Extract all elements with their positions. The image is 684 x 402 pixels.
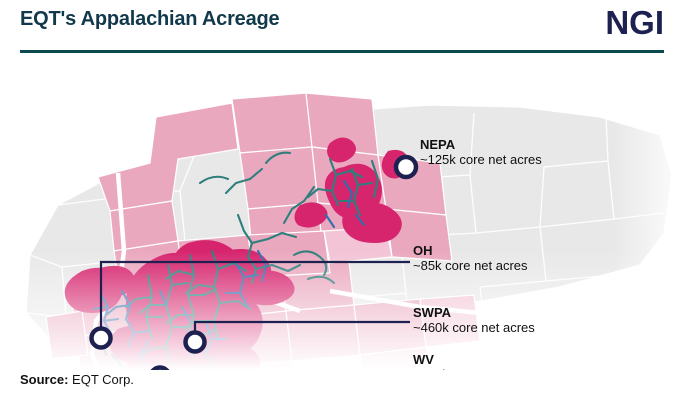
marker-wv[interactable]	[151, 368, 170, 371]
slide-header: EQT's Appalachian Acreage NGI	[0, 0, 684, 52]
callout-swpa-title: SWPA	[413, 305, 535, 320]
callout-wv: WV ~330k core net acres	[413, 352, 535, 370]
slide-root: EQT's Appalachian Acreage NGI	[0, 0, 684, 402]
map-container[interactable]: NEPA ~125k core net acres OH ~85k core n…	[0, 55, 684, 370]
callout-nepa-title: NEPA	[420, 137, 542, 152]
callout-oh: OH ~85k core net acres	[413, 243, 528, 274]
callout-nepa: NEPA ~125k core net acres	[420, 137, 542, 168]
page-title: EQT's Appalachian Acreage	[20, 8, 279, 31]
callout-wv-title: WV	[413, 352, 535, 367]
callout-oh-subtitle: ~85k core net acres	[413, 258, 528, 274]
source-label: Source:	[20, 372, 68, 387]
source-value: EQT Corp.	[72, 372, 134, 387]
marker-nepa[interactable]	[396, 157, 416, 177]
callout-nepa-subtitle: ~125k core net acres	[420, 152, 542, 168]
marker-swpa[interactable]	[186, 333, 205, 352]
callout-swpa: SWPA ~460k core net acres	[413, 305, 535, 336]
appalachian-basin-map	[0, 55, 684, 370]
marker-oh[interactable]	[92, 329, 111, 348]
callout-oh-title: OH	[413, 243, 528, 258]
callout-swpa-subtitle: ~460k core net acres	[413, 320, 535, 336]
ngi-logo: NGI	[605, 4, 664, 42]
source-note: Source: EQT Corp.	[20, 372, 134, 388]
callout-wv-subtitle: ~330k core net acres	[413, 367, 535, 370]
header-divider	[20, 50, 664, 53]
